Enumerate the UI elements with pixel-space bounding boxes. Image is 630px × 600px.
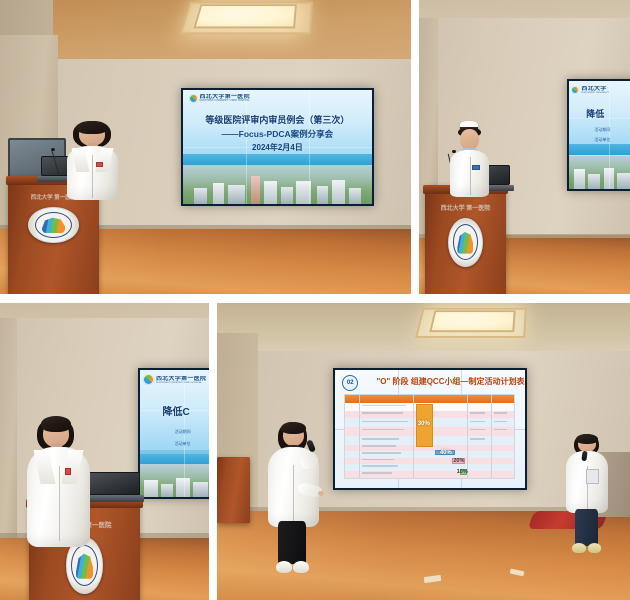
hospital-logo-icon xyxy=(189,94,198,103)
slide-title: 降低C xyxy=(163,403,209,418)
photo-collage: 西北大学第一医院 NORTHWEST UNIVERSITY FIRST HOSP… xyxy=(0,0,630,600)
slide-logo: 西北大学第一医院 NORTHWEST UNIVERSITY FIRST HOSP… xyxy=(189,94,250,103)
hospital-emblem xyxy=(448,218,483,267)
slide-body-line-2: 活动单位 xyxy=(594,137,630,143)
hospital-emblem xyxy=(28,207,79,243)
gantt-label-20: 20% xyxy=(453,458,464,464)
bottom-left-photo: 西北大学第一医院 NORTHWEST UNIVERSITY FIRST HOSP… xyxy=(0,303,209,600)
presenter xyxy=(449,121,491,197)
hospital-logo-icon xyxy=(571,86,579,94)
slide-body-line-1: 活动期间 xyxy=(175,429,209,435)
slide-date: 2024年2月4日 xyxy=(183,142,372,153)
led-video-wall: 西北大学第一医院 NORTHWEST UNIVERSITY FIRST HOSP… xyxy=(138,368,209,499)
presenter-left xyxy=(267,422,321,576)
slide-body-line-2: 活动单位 xyxy=(175,441,209,447)
trousers xyxy=(575,509,598,546)
led-video-wall: 西北大学 NORTHWEST UNIVERSITY 降低 活动期间 活动单位 xyxy=(567,79,630,191)
slide-body-line-1: 活动期间 xyxy=(594,127,630,133)
document-in-hand xyxy=(586,469,600,484)
gantt-label-10: 10% xyxy=(457,469,468,475)
shoe-left xyxy=(572,543,586,553)
slide-logo-subtext: NORTHWEST UNIVERSITY FIRST HOSPITAL xyxy=(156,382,206,384)
slide-logo-subtext: NORTHWEST UNIVERSITY xyxy=(581,92,609,94)
gantt-label-40: 40% xyxy=(440,450,452,456)
slide-subtitle: ——Focus-PDCA案例分享会 xyxy=(183,128,372,140)
presenter-right xyxy=(564,434,609,559)
presenter xyxy=(66,121,119,200)
name-badge xyxy=(65,468,71,475)
top-left-photo: 西北大学第一医院 NORTHWEST UNIVERSITY FIRST HOSP… xyxy=(0,0,411,294)
activity-plan-table: 30% 40% 20% 10% xyxy=(344,394,515,479)
slide-title: 等级医院评审内审员例会（第三次） xyxy=(183,113,372,126)
bottom-right-photo: 02 "O" 阶段 组建QCC小组—制定活动计划表 xyxy=(217,303,630,600)
hospital-logo-icon xyxy=(143,374,154,385)
slide-title: 降低 xyxy=(586,107,630,120)
name-badge xyxy=(96,162,102,167)
podium: 西北大学 第一医院 xyxy=(425,185,505,294)
shoe-left xyxy=(276,561,292,573)
slide-title: "O" 阶段 组建QCC小组—制定活动计划表 xyxy=(376,376,524,387)
presenter xyxy=(27,416,90,547)
led-video-wall: 西北大学第一医院 NORTHWEST UNIVERSITY FIRST HOSP… xyxy=(181,88,374,206)
trousers xyxy=(278,521,306,564)
laptop xyxy=(88,472,140,502)
led-video-wall: 02 "O" 阶段 组建QCC小组—制定活动计划表 xyxy=(333,368,527,490)
shoe-right xyxy=(293,561,309,573)
name-badge xyxy=(472,165,480,170)
slide-logo-subtext: NORTHWEST UNIVERSITY FIRST HOSPITAL xyxy=(200,100,250,102)
podium xyxy=(217,457,250,522)
gantt-label-30: 30% xyxy=(418,421,430,427)
shoe-right xyxy=(588,543,602,553)
top-right-photo: 西北大学 NORTHWEST UNIVERSITY 降低 活动期间 活动单位 西… xyxy=(419,0,630,294)
podium-text: 西北大学 第一医院 xyxy=(425,203,505,212)
